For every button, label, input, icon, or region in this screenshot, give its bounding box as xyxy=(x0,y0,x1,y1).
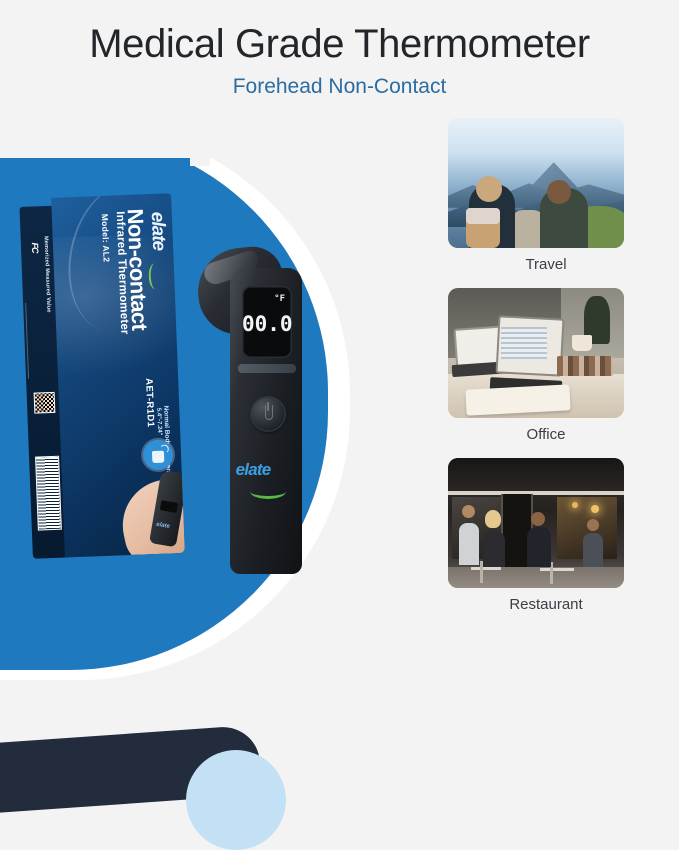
restaurant-photo xyxy=(448,458,624,588)
box-sku-label: AET-R1D1 xyxy=(143,378,156,428)
lcd-unit-label: °F xyxy=(274,294,285,304)
box-measured-value: 5.4"-7.24" xyxy=(155,408,162,436)
page-subtitle: Forehead Non-Contact xyxy=(0,76,679,97)
page-title: Medical Grade Thermometer xyxy=(0,24,679,64)
restaurant-scene xyxy=(448,458,624,588)
use-case-caption: Office xyxy=(448,427,644,442)
box-model-label: Model: AL2 xyxy=(100,214,112,263)
device-brand-swoosh-icon xyxy=(250,484,286,499)
cafe-awning xyxy=(448,458,624,492)
cafe-person-seated-middle-head xyxy=(531,512,545,526)
use-case-card-office: Office xyxy=(448,288,644,442)
cafe-person-standing xyxy=(459,523,479,565)
box-hand-photo: elate xyxy=(113,460,184,556)
use-case-caption: Travel xyxy=(448,257,644,272)
cafe-person-seated-middle xyxy=(527,527,551,567)
power-measure-button[interactable] xyxy=(250,396,286,432)
cafe-table-left xyxy=(471,567,501,570)
device-brand-logo: elate xyxy=(198,460,308,480)
cafe-awning-edge xyxy=(448,491,624,495)
travel-scene xyxy=(448,118,624,248)
header: Medical Grade Thermometer Forehead Non-C… xyxy=(0,0,679,97)
cafe-person-standing-head xyxy=(462,505,475,518)
cafe-person-seated-right xyxy=(583,533,603,567)
hiker-left-head xyxy=(476,176,502,202)
backpack-left-top xyxy=(466,208,500,224)
hero-accent-circle xyxy=(186,750,286,850)
office-scene xyxy=(448,288,624,418)
box-brand-swoosh-icon xyxy=(148,263,162,289)
use-case-card-travel: Travel xyxy=(448,118,644,272)
fcc-mark: FC xyxy=(30,242,40,252)
lcd-temperature-value: 00.0 xyxy=(242,312,292,336)
office-photo xyxy=(448,288,624,418)
coffee-cup xyxy=(572,335,592,351)
product-box: FC Memorized Measured Value elate Non-co… xyxy=(19,193,185,559)
device-sensor-vent xyxy=(238,364,296,373)
cafe-person-seated-left-head xyxy=(485,510,501,528)
cafe-pavement xyxy=(448,567,624,588)
use-case-list: Travel Office xyxy=(448,118,644,628)
hiker-right-head xyxy=(547,180,571,204)
travel-photo xyxy=(448,118,624,248)
cafe-table-right xyxy=(540,568,574,571)
thermometer-device: °F 00.0 elate xyxy=(198,248,308,578)
use-case-card-restaurant: Restaurant xyxy=(448,458,644,612)
use-case-caption: Restaurant xyxy=(448,597,644,612)
notepad xyxy=(465,384,570,415)
cafe-person-seated-left xyxy=(483,531,505,567)
hero-top-corner xyxy=(0,158,190,184)
box-brand-logo: elate xyxy=(146,211,169,250)
device-lcd-screen: °F 00.0 xyxy=(242,286,292,358)
product-marketing-image: Medical Grade Thermometer Forehead Non-C… xyxy=(0,0,679,679)
qr-code xyxy=(34,392,56,414)
mini-brand-logo: elate xyxy=(156,522,171,530)
barcode xyxy=(35,456,62,531)
box-face: elate Non-contact Infrared Thermometer M… xyxy=(51,193,185,557)
laptop-front-screen xyxy=(501,327,547,359)
book-row xyxy=(557,356,613,376)
